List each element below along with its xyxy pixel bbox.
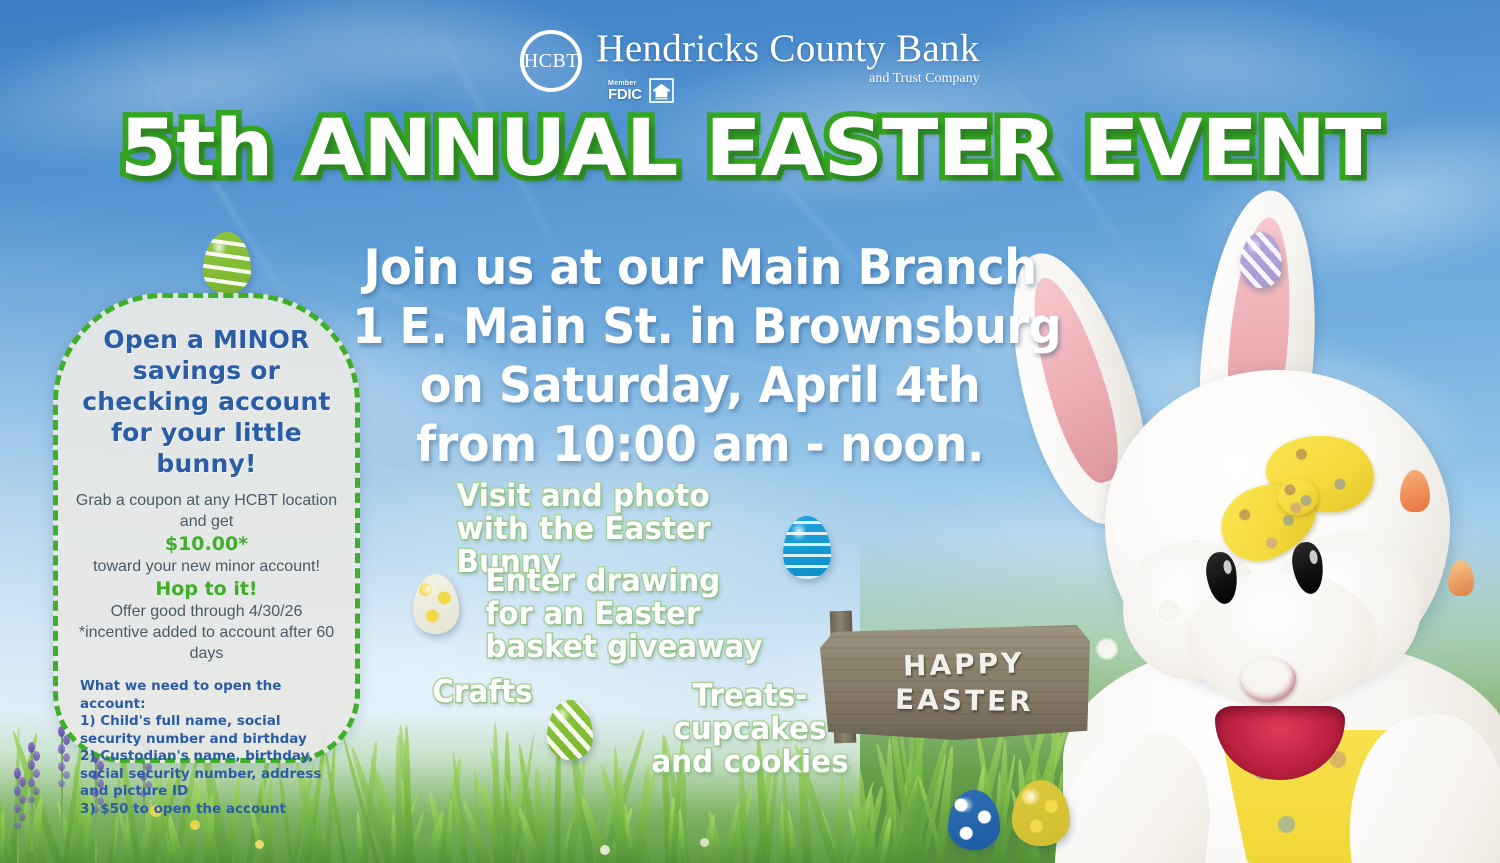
fdic-label: FDIC <box>608 87 642 102</box>
coupon-cta: Hop to it! <box>74 577 339 601</box>
sign-line-1: HAPPY <box>903 646 1025 682</box>
daisy-flower <box>1158 600 1180 622</box>
small-flower <box>700 838 709 847</box>
minor-account-coupon-box: Open a MINOR savings or checking account… <box>53 293 360 763</box>
coupon-body: Grab a coupon at any HCBT location and g… <box>74 490 339 664</box>
event-line-2: 1 E. Main St. in Brownsburg <box>352 297 1048 356</box>
lavender-floret <box>14 786 21 796</box>
coupon-line-4: *incentive added to account after 60 day… <box>79 624 334 662</box>
hcbt-monogram-icon: HCBT <box>520 30 582 92</box>
egg-highlight <box>1021 787 1041 807</box>
activity-treats: Treats- cupcakes and cookies <box>646 680 855 779</box>
requirements-title: What we need to open the account: <box>80 678 339 713</box>
egg-highlight <box>420 580 436 598</box>
egg-highlight <box>211 238 227 257</box>
coupon-line-2: toward your new minor account! <box>93 558 320 575</box>
lavender-floret <box>28 778 35 787</box>
bank-name: Hendricks County Bank <box>596 28 979 70</box>
sign-text: HAPPY EASTER <box>820 625 1090 740</box>
lavender-floret <box>28 760 35 770</box>
small-flower <box>190 820 200 830</box>
small-flower <box>255 840 264 849</box>
lavender-floret <box>19 813 26 821</box>
lavender-floret <box>14 804 21 813</box>
requirement-1: 1) Child's full name, social security nu… <box>80 713 339 748</box>
event-line-3: on Saturday, April 4th <box>352 356 1048 415</box>
coupon-amount: $10.00* <box>74 532 339 556</box>
event-line-1: Join us at our Main Branch <box>352 238 1048 297</box>
coupon-requirements: What we need to open the account: 1) Chi… <box>74 678 339 818</box>
bow-knot <box>1278 479 1318 515</box>
coupon-heading: Open a MINOR savings or checking account… <box>74 324 339 479</box>
easter-event-banner: HAPPY EASTER HCBT Hendricks County Bank … <box>0 0 1500 863</box>
equal-housing-lender-icon <box>649 78 674 103</box>
lavender-floret <box>58 762 65 771</box>
bunny-bow <box>1220 435 1390 555</box>
sign-line-2: EASTER <box>894 683 1033 718</box>
event-details: Join us at our Main Branch 1 E. Main St.… <box>352 238 1048 474</box>
lavender-floret <box>58 744 65 754</box>
lavender-floret <box>63 771 70 779</box>
daisy-flower-2 <box>1098 640 1116 658</box>
regulatory-badges: Member FDIC <box>608 78 674 103</box>
egg-highlight <box>791 522 807 541</box>
small-flower <box>600 845 610 855</box>
requirement-3: 3) $50 to open the account <box>80 801 339 819</box>
bunny-nose <box>1240 658 1296 702</box>
egg-highlight <box>1247 238 1261 255</box>
happy-easter-sign: HAPPY EASTER <box>820 625 1090 740</box>
activity-crafts: Crafts <box>432 676 594 709</box>
event-line-4: from 10:00 am - noon. <box>352 415 1048 474</box>
activity-basket-drawing: Enter drawing for an Easter basket givea… <box>486 565 771 664</box>
coupon-line-1: Grab a coupon at any HCBT location and g… <box>76 492 337 530</box>
bank-logo: HCBT Hendricks County Bank and Trust Com… <box>0 28 1500 92</box>
requirement-2: 2) Custodian's name, birthday, social se… <box>80 748 339 801</box>
lavender-floret <box>33 787 40 795</box>
egg-highlight <box>956 796 974 814</box>
coupon-line-3: Offer good through 4/30/26 <box>111 603 303 620</box>
fdic-member-badge: Member FDIC <box>608 80 642 102</box>
page-title: 5th ANNUAL EASTER EVENT <box>0 108 1500 190</box>
